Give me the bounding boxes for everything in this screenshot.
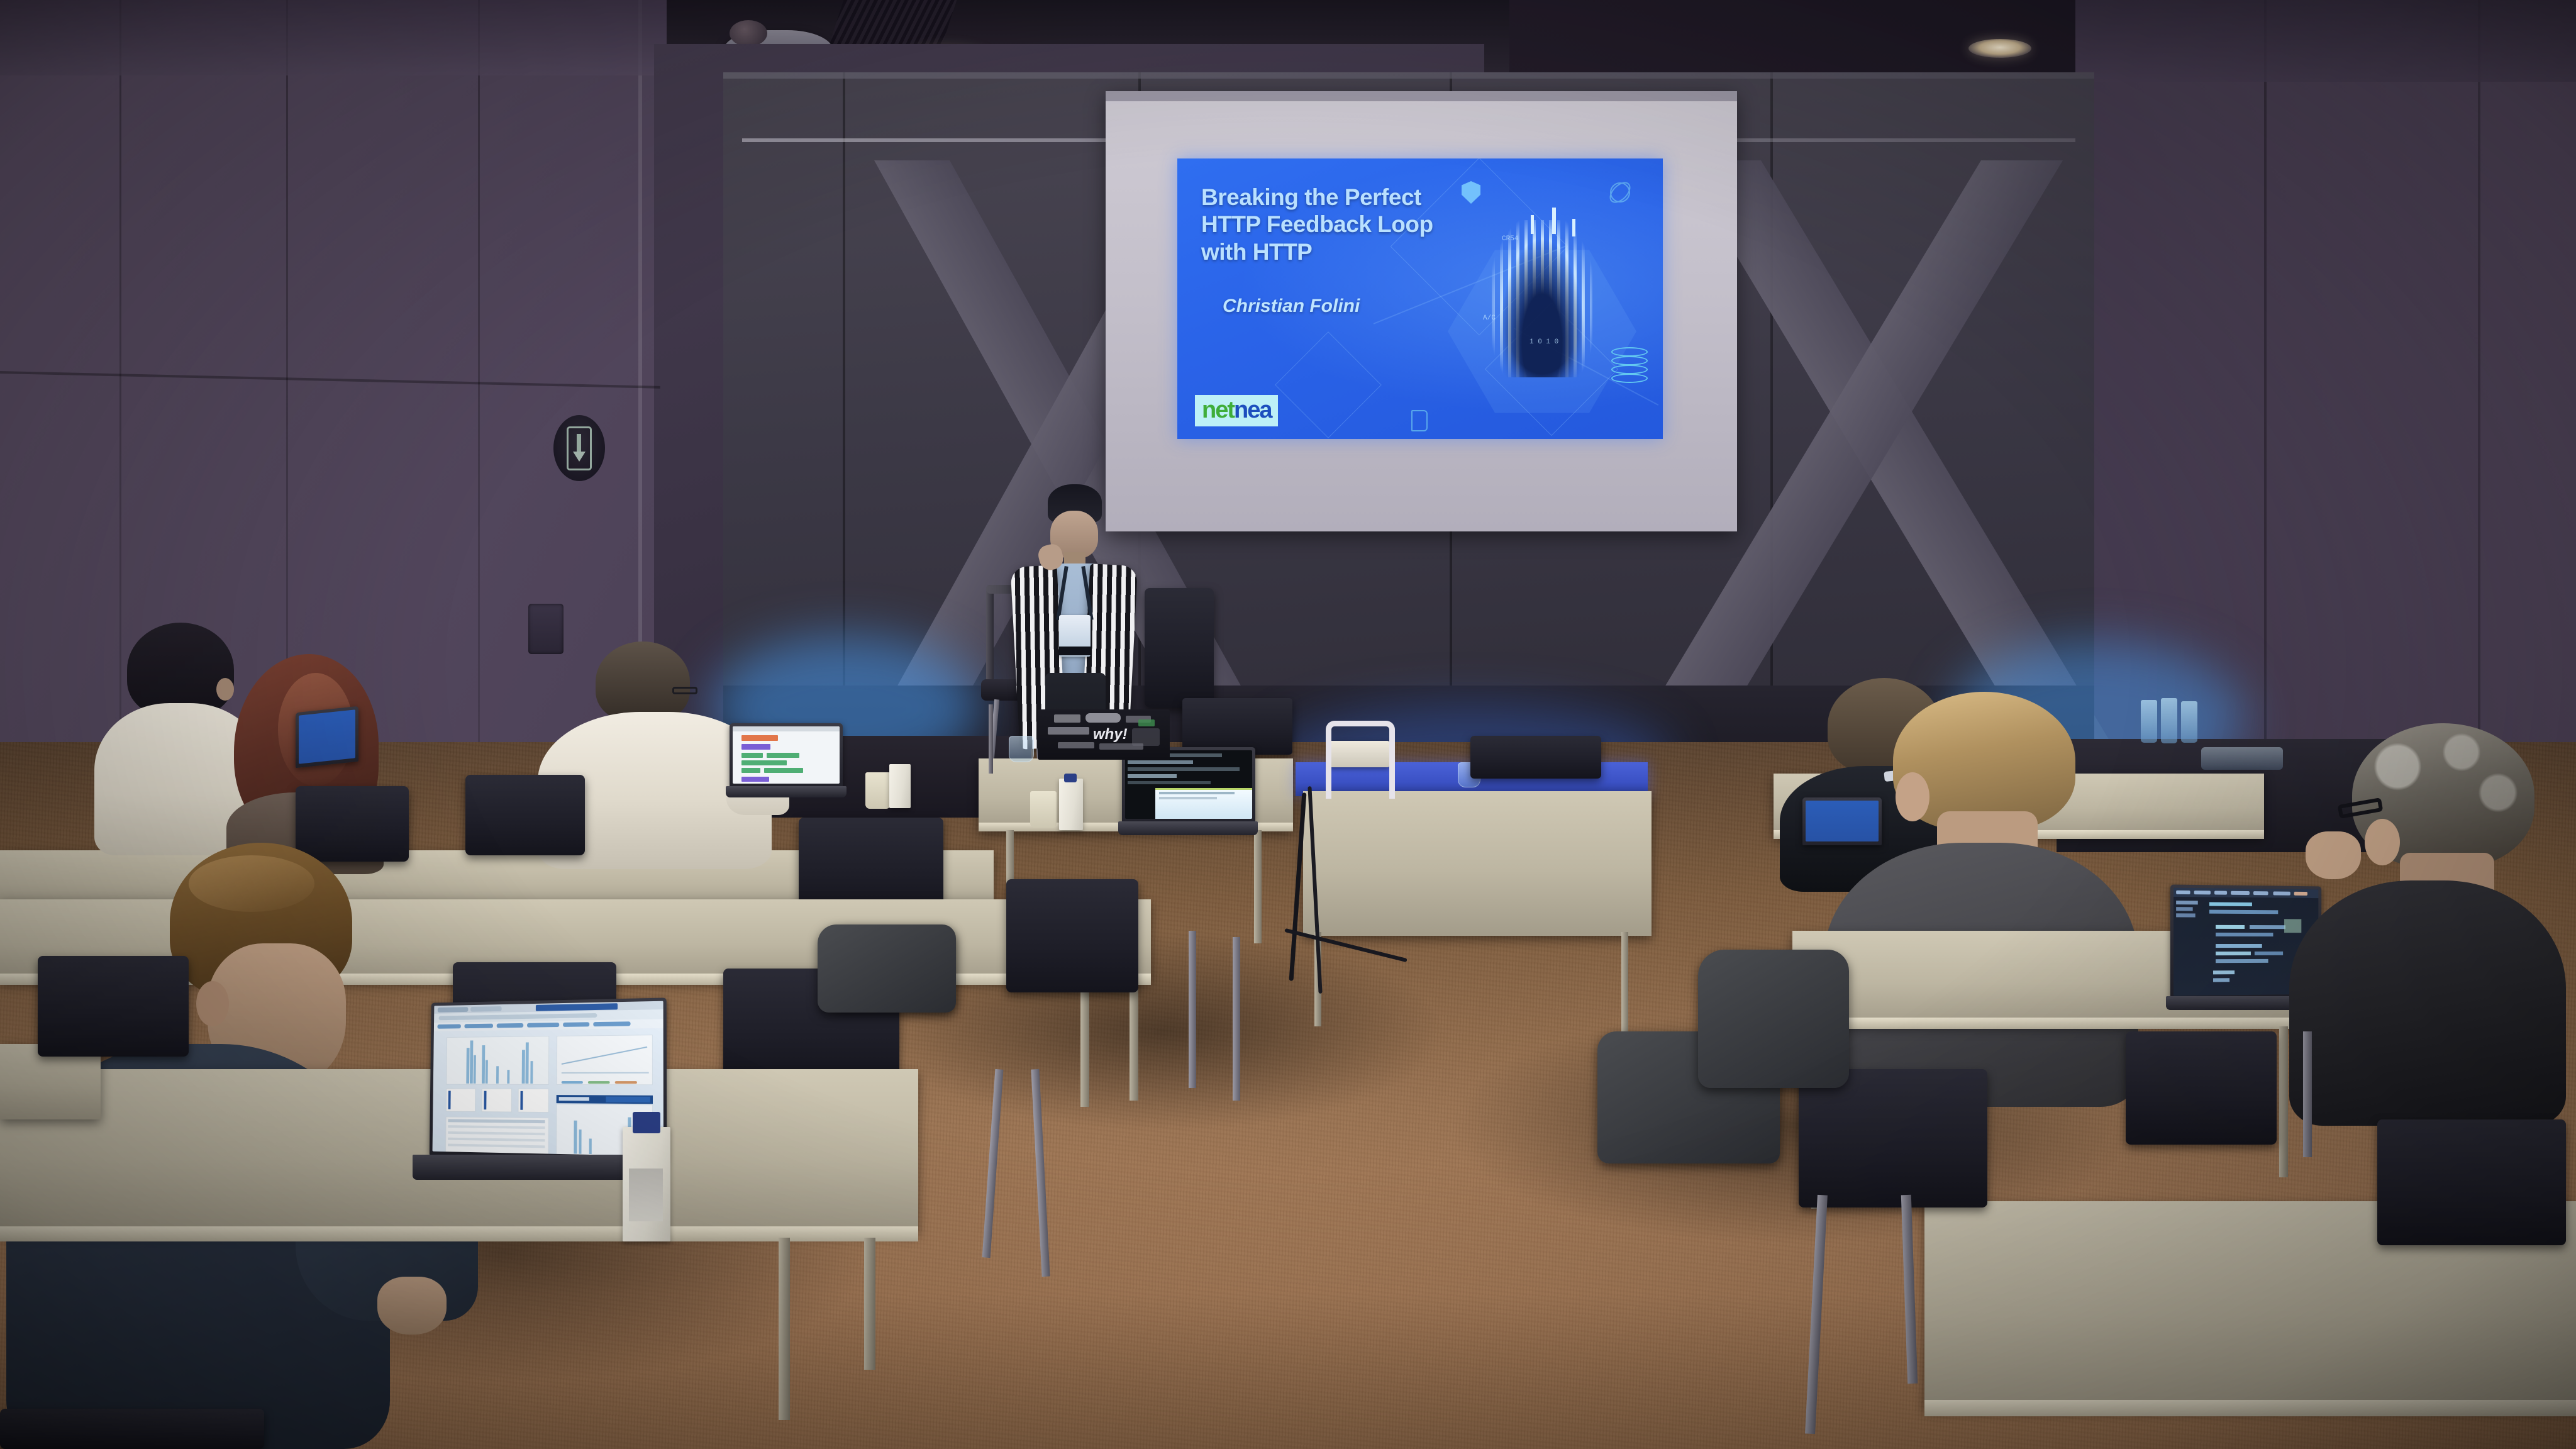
wall-right-upper-band	[2075, 0, 2576, 82]
person-4-ear	[196, 981, 229, 1026]
paper-cup-back-left	[865, 772, 891, 809]
logo-text-part-1: net	[1202, 397, 1234, 423]
atom-icon	[1610, 182, 1630, 203]
laptop-notes-screen	[733, 726, 840, 784]
slide-bit-label-1: CR54	[1502, 235, 1518, 243]
slide-title-line-3: with HTTP	[1201, 238, 1491, 265]
mic-stand	[989, 704, 993, 774]
presenter-table-leg-right	[1254, 830, 1262, 943]
slide-bit-label-3: 1 0 1 0	[1529, 338, 1558, 346]
conference-room-photo: CR54 A/C 1 0 1 0 Breaking the Perfect HT…	[0, 0, 2576, 1449]
chair-right-3	[2377, 1119, 2566, 1245]
slide: CR54 A/C 1 0 1 0 Breaking the Perfect HT…	[1177, 158, 1663, 439]
slide-title-line-1: Breaking the Perfect	[1201, 184, 1491, 211]
laptop-sticker-text: why!	[1093, 726, 1128, 743]
book-icon	[1411, 410, 1428, 431]
laptop-notes	[730, 723, 843, 802]
chair-foreground-left-2	[0, 1409, 264, 1449]
laptop-back-left-1-screen	[299, 709, 355, 763]
glass-cluster-right	[2201, 747, 2283, 770]
wall-left-upper-band	[0, 0, 667, 75]
slide-castle-spire-2	[1552, 208, 1556, 234]
table-right-front-leg-2	[2279, 1026, 2288, 1177]
carton-back-left	[889, 764, 911, 808]
water-glass-stage	[1009, 736, 1034, 762]
person-7-hand	[2306, 831, 2361, 879]
water-bottle-3	[2181, 701, 2197, 743]
laptop-presenter-screen	[1125, 750, 1252, 819]
milk-carton-front-label	[629, 1169, 663, 1221]
slide-author: Christian Folini	[1223, 296, 1360, 317]
slide-castle-artwork	[1492, 220, 1592, 377]
speaker-badge-strip	[1059, 647, 1091, 655]
slide-bit-label-2: A/C	[1483, 314, 1496, 322]
backpack-floor-mid	[818, 924, 956, 1013]
person-7-torso	[2289, 880, 2566, 1126]
ceiling-light-small-2	[1968, 39, 2031, 58]
milk-carton-front-cap	[633, 1112, 660, 1133]
laptop-sticker-lid: why!	[1038, 709, 1170, 760]
backdrop-top-edge	[723, 72, 2094, 79]
person-7-ear	[2365, 819, 2400, 865]
table-front-left-leg-1	[779, 1238, 790, 1420]
table-mid-left-leg-1	[1080, 981, 1089, 1107]
person-6-ear	[1896, 772, 1929, 821]
netnea-logo: netnea	[1195, 395, 1278, 426]
av-table-front	[1303, 791, 1652, 936]
laptop-presenter	[1118, 747, 1258, 841]
slide-title-line-2: HTTP Feedback Loop	[1201, 211, 1491, 238]
person-4-hair-part	[189, 855, 314, 912]
stage-chair-2	[1182, 698, 1292, 755]
chair-mid-leg-3	[1189, 931, 1196, 1088]
chair-right-2	[2126, 1031, 2277, 1145]
person-3-hair	[596, 641, 690, 722]
milk-carton-cap	[1064, 774, 1077, 782]
av-chair-white	[1326, 721, 1395, 799]
person-3-glasses-icon	[672, 687, 697, 694]
slide-castle-spire-3	[1572, 219, 1575, 236]
audience-person-6	[1824, 692, 2176, 1107]
exit-arrow-tip-icon	[573, 452, 586, 462]
chair-mid-leg-4	[1233, 937, 1240, 1101]
laptop-back-left-1	[296, 709, 358, 779]
slide-castle-spire-1	[1531, 215, 1534, 234]
slide-title: Breaking the Perfect HTTP Feedback Loop …	[1201, 184, 1491, 265]
chair-right-leg-3	[2303, 1031, 2312, 1157]
projection-screen-top-bar	[1106, 91, 1737, 101]
audience-person-7	[2289, 723, 2576, 1126]
chair-back-left-3	[799, 818, 943, 912]
milk-carton	[1059, 779, 1083, 830]
database-stack-icon	[1611, 347, 1649, 384]
table-front-left-leg-2	[864, 1238, 875, 1370]
stage-chair-1	[1145, 588, 1214, 708]
table-mid-left-leg-2	[1130, 981, 1138, 1101]
chair-foreground-left	[38, 956, 189, 1057]
stage-chair-3	[1470, 736, 1601, 779]
paper-cup	[1030, 791, 1057, 828]
person-4-hand	[377, 1277, 447, 1335]
chair-mid-3	[1006, 879, 1138, 992]
av-table-leg-right	[1621, 932, 1628, 1031]
table-far-right-edge	[1924, 1400, 2576, 1416]
logo-text-part-2: nea	[1234, 397, 1271, 423]
chair-right-1	[1799, 1069, 1987, 1207]
